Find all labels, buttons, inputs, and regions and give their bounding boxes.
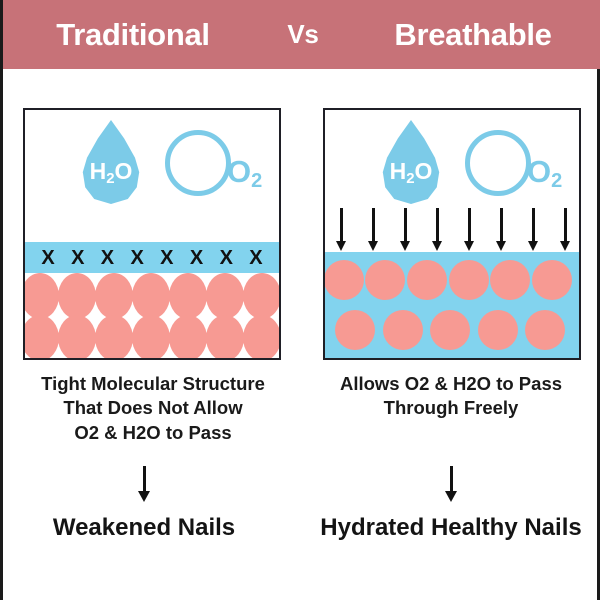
arrow-head-icon [336,241,346,251]
header-title-traditional: Traditional [8,17,258,53]
caption-line: Allows O2 & H2O to Pass [301,372,600,396]
bubble-2-subscript: 2 [251,170,262,192]
water-droplet-icon-right: H2O [375,120,447,212]
arrow-head-icon [368,241,378,251]
molecule-circle [449,260,489,300]
arrow-head-icon [496,241,506,251]
down-arrow-icon [431,208,443,252]
molecule-circle [478,310,518,350]
water-droplet-icon-left: H2O [75,120,147,212]
barrier-x-mark: X [130,248,143,268]
infographic-root: Traditional Vs Breathable H2O O2 XXXXXXX… [0,0,600,600]
molecule-row [23,315,281,360]
molecule-circle [365,260,405,300]
molecule-circle [169,315,207,360]
barrier-x-mark: X [190,248,203,268]
arrow-shaft [436,208,439,243]
arrow-head-icon [445,491,457,502]
molecule-circle [532,260,572,300]
caption-line: That Does Not Allow [3,396,303,420]
molecule-circle [383,310,423,350]
droplet-h2o-label: H2O [375,160,447,186]
bubble-highlight-icon [182,141,215,171]
caption-traditional: Tight Molecular StructureThat Does Not A… [3,372,303,445]
molecule-circle [206,273,244,319]
caption-line: Through Freely [301,396,600,420]
arrow-shaft [500,208,503,243]
molecule-circle [95,315,133,360]
down-arrow-icon [495,208,507,252]
molecule-circle [335,310,375,350]
bubble-o2-label: O2 [527,156,562,191]
tight-molecule-grid [25,273,279,360]
arrow-head-icon [464,241,474,251]
caption-line: O2 & H2O to Pass [3,421,303,445]
barrier-x-mark: X [101,248,114,268]
molecule-circle [23,273,59,319]
molecule-circle [23,315,59,360]
molecule-circle [58,315,96,360]
molecule-circle [132,273,170,319]
barrier-x-mark: X [160,248,173,268]
permeation-arrows [335,208,571,252]
molecule-row [323,258,575,302]
result-arrow-right [444,466,458,502]
arrow-head-icon [528,241,538,251]
barrier-x-mark: X [71,248,84,268]
molecule-circle [525,310,565,350]
panel-breathable: H2O O2 [323,108,581,360]
molecule-icons-left: H2O O2 [25,114,279,214]
droplet-o-letter: O [415,158,433,184]
barrier-x-mark: X [249,248,262,268]
caption-line: Tight Molecular Structure [3,372,303,396]
droplet-h2o-label: H2O [75,160,147,186]
bubble-o-letter: O [527,154,551,189]
droplet-2-subscript: 2 [406,170,414,187]
oxygen-bubble-icon-right: O2 [465,130,561,210]
arrow-head-icon [138,491,150,502]
arrow-shaft [372,208,375,243]
bubble-circle [165,130,231,196]
molecule-row [335,308,565,352]
molecule-circle [324,260,364,300]
result-label-hydrated-healthy-nails: Hydrated Healthy Nails [301,514,600,542]
down-arrow-icon [367,208,379,252]
molecule-circle [169,273,207,319]
arrow-shaft [564,208,567,243]
arrow-shaft [340,208,343,243]
droplet-h-letter: H [90,158,107,184]
result-arrow-left [137,466,151,502]
down-arrow-icon [335,208,347,252]
bubble-o2-label: O2 [227,156,262,191]
result-label-weakened-nails: Weakened Nails [0,514,294,542]
header-versus-label: Vs [258,19,348,50]
barrier-x-mark: X [41,248,54,268]
barrier-x-mark: X [220,248,233,268]
molecule-row [23,273,281,319]
molecule-circle [206,315,244,360]
panel-traditional: H2O O2 XXXXXXXX [23,108,281,360]
down-arrow-icon [559,208,571,252]
bubble-highlight-icon [482,141,515,171]
arrow-shaft [404,208,407,243]
molecule-icons-right: H2O O2 [325,114,579,214]
arrow-shaft [143,466,146,493]
bubble-circle [465,130,531,196]
barrier-band-with-x-marks: XXXXXXXX [25,242,279,273]
header-banner: Traditional Vs Breathable [3,0,600,69]
droplet-2-subscript: 2 [106,170,114,187]
molecule-circle [132,315,170,360]
oxygen-bubble-icon-left: O2 [165,130,261,210]
bubble-o-letter: O [227,154,251,189]
bubble-2-subscript: 2 [551,170,562,192]
molecule-circle [490,260,530,300]
molecule-circle [243,273,281,319]
header-title-breathable: Breathable [348,17,598,53]
down-arrow-icon [463,208,475,252]
droplet-o-letter: O [115,158,133,184]
down-arrow-icon [399,208,411,252]
arrow-head-icon [432,241,442,251]
arrow-shaft [450,466,453,493]
molecule-circle [407,260,447,300]
caption-breathable: Allows O2 & H2O to PassThrough Freely [301,372,600,421]
molecule-circle [58,273,96,319]
arrow-head-icon [400,241,410,251]
down-arrow-icon [527,208,539,252]
molecule-circle [95,273,133,319]
droplet-h-letter: H [390,158,407,184]
arrow-shaft [532,208,535,243]
permeable-cyan-field [325,252,579,360]
arrow-head-icon [560,241,570,251]
molecule-circle [430,310,470,350]
arrow-shaft [468,208,471,243]
molecule-circle [243,315,281,360]
